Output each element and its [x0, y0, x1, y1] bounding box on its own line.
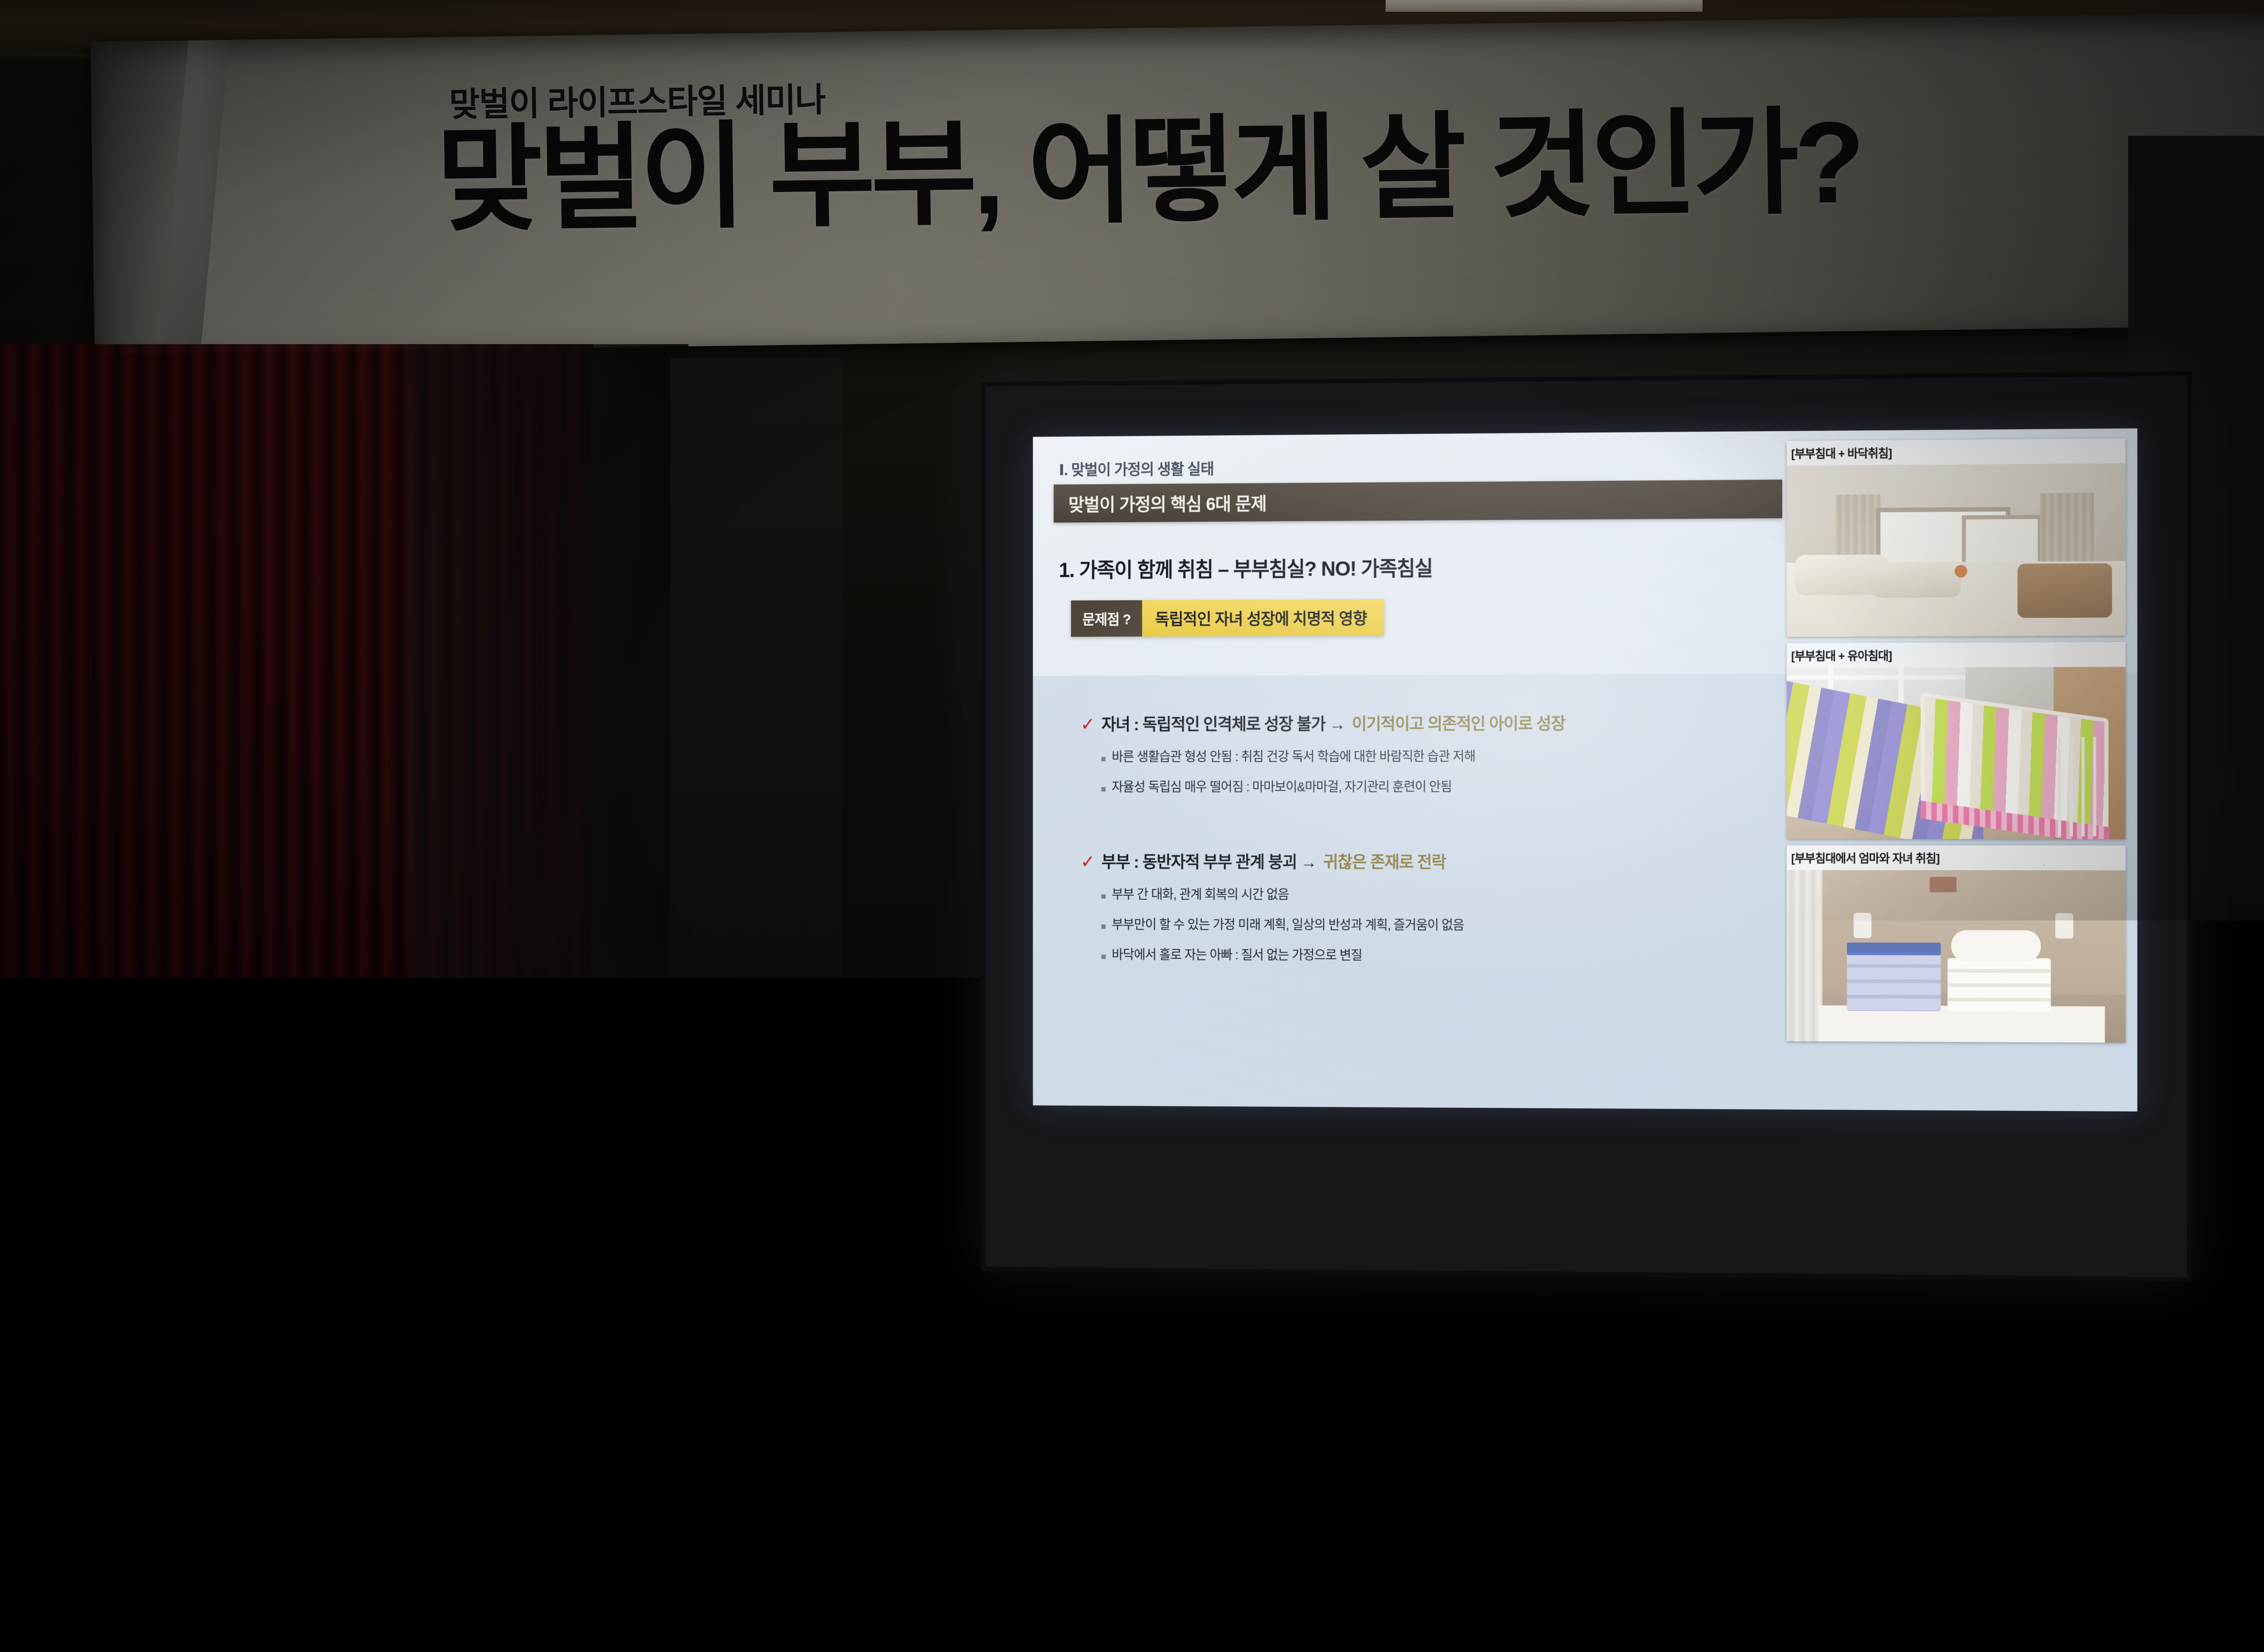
curtain-shape — [1787, 845, 1823, 1042]
pillow-shape — [1871, 564, 1961, 598]
pillow-shape — [1951, 930, 2041, 962]
seat[interactable] — [2228, 1508, 2264, 1652]
seat-number-tag — [408, 1645, 429, 1652]
photo-bedroom-crib: [부부침대 + 유아침대] — [1787, 642, 2125, 839]
stage-side-panel — [670, 358, 842, 1377]
audience-phone-screen[interactable] — [103, 1571, 119, 1598]
auditorium-scene: 맞벌이 라이프스타일 세미나 맞벌이 부부, 어떻게 살 것인가? 주최 Ⅰ. … — [0, 0, 2264, 1652]
audience-head — [1503, 1490, 1592, 1635]
audience-phone-screen[interactable] — [2092, 1590, 2106, 1612]
slide-header-bar: 맞벌이 가정의 핵심 6대 문제 — [1054, 480, 1782, 523]
wall-art-shape — [1930, 877, 1957, 892]
photo-bedroom-mother-child: [부부침대에서 엄마와 자녀 취침] — [1787, 845, 2125, 1043]
seat-number-tag — [0, 1645, 8, 1652]
square-bullet-icon — [1101, 787, 1106, 792]
sub-bullet: 부부만이 할 수 있는 가정 미래 계획, 일상의 반성과 계획, 즐거움이 없… — [1101, 914, 1464, 934]
sub-bullet-text: 부부만이 할 수 있는 가정 미래 계획, 일상의 반성과 계획, 즐거움이 없… — [1112, 914, 1464, 934]
seat-number-tag — [1531, 1645, 1552, 1652]
bullet-lead-plain: 부부 : 동반자적 부부 관계 붕괴 → — [1101, 849, 1316, 873]
seat-number-tag — [1391, 1645, 1412, 1652]
square-bullet-icon — [1101, 894, 1106, 899]
audience-head — [272, 1481, 367, 1630]
ceiling-light-strip — [1386, 0, 1703, 12]
sub-bullet: 부부 간 대화, 관계 회복의 시간 없음 — [1101, 884, 1464, 903]
audience-head — [398, 1479, 489, 1633]
presentation-slide: Ⅰ. 맞벌이 가정의 생활 실태 맞벌이 가정의 핵심 6대 문제 1. 가족이… — [1033, 428, 2137, 1111]
slide-photo-column: [부부침대 + 바닥취침] [부부침대 + 유아침대] — [1787, 438, 2125, 1049]
flower-decoration-icon — [678, 1206, 689, 1224]
banner-shadow — [91, 40, 203, 354]
rail-shape — [2058, 737, 2099, 836]
problem-callout: 문제점 ? 독립적인 자녀 성장에 치명적 영향 — [1071, 599, 1384, 637]
square-bullet-icon — [1101, 757, 1106, 761]
bullet-lead-plain: 자녀 : 독립적인 인격체로 성장 불가 → — [1101, 711, 1345, 735]
bullet-lead: ✓ 자녀 : 독립적인 인격체로 성장 불가 → 이기적이고 의존적인 아이로 … — [1080, 710, 1565, 735]
audience-phone-screen[interactable] — [1806, 1629, 1818, 1650]
bullet-lead-highlight: 이기적이고 의존적인 아이로 성장 — [1352, 710, 1565, 735]
audience-head — [1630, 1481, 1721, 1635]
sub-bullet-text: 바닥에서 홀로 자는 아빠 : 질서 없는 가정으로 변질 — [1112, 944, 1362, 964]
banner-title: 맞벌이 부부, 어떻게 살 것인가? — [436, 105, 1861, 239]
audience-head — [1127, 1485, 1216, 1630]
podium-sign: 맞벌이 라이프스타일 세미나 맞벌이 부부, 어떻게 살 것인가? 주최 · 후… — [577, 1203, 691, 1242]
object-shape — [1955, 565, 1967, 578]
audience-head — [1377, 1506, 1458, 1637]
audience-phone-screen[interactable] — [1232, 1576, 1245, 1599]
check-icon: ✓ — [1080, 716, 1094, 733]
audience-head — [2137, 1508, 2223, 1644]
seat-number-tag — [549, 1645, 570, 1652]
audience-head — [2006, 1476, 2101, 1635]
audience-head — [887, 1476, 974, 1626]
photo-image — [1787, 642, 2125, 839]
sub-bullet-text: 자율성 독립심 매우 떨어짐 : 마마보이&마마걸, 자기관리 훈련이 안됨 — [1112, 777, 1452, 796]
audience-head — [770, 1490, 860, 1635]
audience-head — [1250, 1494, 1336, 1635]
sub-bullet-text: 부부 간 대화, 관계 회복의 시간 없음 — [1112, 884, 1289, 903]
audience-head — [1010, 1499, 1094, 1635]
futon-top-shape — [1847, 942, 1941, 955]
seat-number-tag — [689, 1645, 710, 1652]
photo-caption: [부부침대 + 바닥취침] — [1787, 438, 2125, 466]
sconce-lamp-icon — [2055, 913, 2073, 938]
bullet-lead: ✓ 부부 : 동반자적 부부 관계 붕괴 → 귀찮은 존재로 전락 — [1080, 849, 1464, 873]
slide-kicker: Ⅰ. 맞벌이 가정의 생활 실태 — [1059, 457, 1214, 480]
seat-number-tag — [268, 1645, 289, 1652]
stage-speaker-box — [435, 1304, 489, 1390]
square-bullet-icon — [1101, 924, 1106, 929]
seat-number-tag — [2093, 1645, 2114, 1652]
photo-bedroom-bed-floor: [부부침대 + 바닥취침] — [1787, 438, 2125, 637]
seat-number-tag — [970, 1645, 991, 1652]
audience-area — [0, 1463, 2264, 1652]
seat-number-tag — [1251, 1645, 1271, 1652]
problem-value: 독립적인 자녀 성장에 치명적 영향 — [1142, 599, 1384, 637]
photo-image — [1787, 438, 2125, 637]
seat-number-tag — [128, 1645, 149, 1652]
audience-head — [18, 1522, 104, 1652]
audience-head — [648, 1499, 734, 1635]
audience-head — [1757, 1503, 1841, 1639]
seat-number-tag — [1672, 1645, 1693, 1652]
photo-caption: [부부침대에서 엄마와 자녀 취침] — [1787, 845, 2125, 870]
futon-stack-shape — [1847, 952, 1941, 1011]
banner-fold — [160, 40, 229, 353]
audience-head — [516, 1463, 598, 1599]
check-icon: ✓ — [1080, 853, 1094, 871]
bullet-lead-highlight: 귀찮은 존재로 전락 — [1323, 849, 1446, 873]
podium-sign-title: 맞벌이 부부, 어떻게 살 것인가? — [581, 1212, 687, 1237]
seat-number-tag — [1110, 1645, 1131, 1652]
bullet-block-couple: ✓ 부부 : 동반자적 부부 관계 붕괴 → 귀찮은 존재로 전락 부부 간 대… — [1080, 849, 1464, 964]
seat-number-tag — [1952, 1645, 1973, 1652]
audience-head — [1879, 1488, 1970, 1637]
slide-heading: 1. 가족이 함께 취침 – 부부침실? NO! 가족침실 — [1059, 552, 1433, 583]
slide-header-bar-label: 맞벌이 가정의 핵심 6대 문제 — [1054, 490, 1266, 517]
photo-caption: [부부침대 + 유아침대] — [1787, 642, 2125, 668]
bullet-block-children: ✓ 자녀 : 독립적인 인격체로 성장 불가 → 이기적이고 의존적인 아이로 … — [1080, 710, 1565, 795]
sub-bullet-text: 바른 생활습관 형성 안됨 : 취침 건강 독서 학습에 대한 바람직한 습관 … — [1112, 746, 1475, 765]
problem-tag: 문제점 ? — [1071, 600, 1142, 637]
sub-bullet: 바닥에서 홀로 자는 아빠 : 질서 없는 가정으로 변질 — [1101, 944, 1464, 964]
event-banner: 맞벌이 라이프스타일 세미나 맞벌이 부부, 어떻게 살 것인가? 주최 — [91, 10, 2264, 354]
blanket-shape — [2018, 563, 2112, 618]
square-bullet-icon — [1101, 955, 1106, 959]
sconce-lamp-icon — [1854, 913, 1871, 938]
seat-number-tag — [830, 1645, 850, 1652]
projection-screen: Ⅰ. 맞벌이 가정의 생활 실태 맞벌이 가정의 핵심 6대 문제 1. 가족이… — [981, 371, 2192, 1282]
audience-head — [145, 1472, 235, 1621]
sub-bullet: 자율성 독립심 매우 떨어짐 : 마마보이&마마걸, 자기관리 훈련이 안됨 — [1101, 776, 1565, 795]
seat-number-tag — [2233, 1645, 2254, 1652]
photo-image — [1787, 845, 2125, 1043]
sub-bullet: 바른 생활습관 형성 안됨 : 취침 건강 독서 학습에 대한 바람직한 습관 … — [1101, 746, 1565, 765]
futon-stack-shape — [1947, 958, 2051, 1012]
